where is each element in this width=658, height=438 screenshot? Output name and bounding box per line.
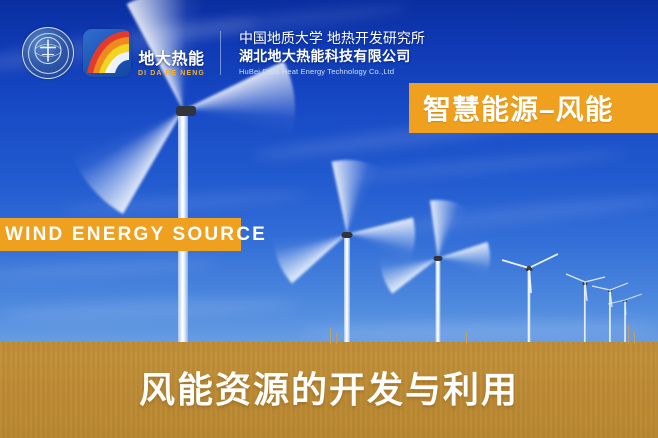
org-name-line3-en: HuBei DiDa Heat Energy Technology Co.,Lt…	[239, 67, 425, 76]
organization-names: 中国地质大学 地热开发研究所 湖北地大热能科技有限公司 HuBei DiDa H…	[239, 30, 425, 75]
dida-rainbow-logo-icon	[83, 29, 131, 77]
banner-smart-energy-wind-text: 智慧能源–风能	[423, 88, 614, 128]
grass-blade	[330, 328, 331, 344]
ground-field	[0, 342, 658, 438]
org-name-line1: 中国地质大学 地热开发研究所	[239, 30, 425, 47]
org-name-line2: 湖北地大热能科技有限公司	[239, 48, 425, 65]
banner-smart-energy-wind: 智慧能源–风能	[409, 83, 658, 133]
banner-wind-energy-source: WIND ENERGY SOURCE	[0, 218, 241, 251]
grass-blade	[336, 333, 337, 344]
banner-wind-energy-source-text: WIND ENERGY SOURCE	[5, 224, 267, 246]
university-seal-icon	[22, 27, 74, 79]
dida-wordmark-cn: 地大热能	[138, 52, 204, 68]
header-divider	[220, 31, 221, 75]
brand-header: 地大热能 DI DA RE NENG 中国地质大学 地热开发研究所 湖北地大热能…	[22, 27, 425, 79]
wind-energy-poster: 地大热能 DI DA RE NENG 中国地质大学 地热开发研究所 湖北地大热能…	[0, 0, 658, 438]
wind-turbine-mid	[492, 268, 566, 348]
grass-blade	[628, 326, 629, 344]
turbine-blades-icon	[605, 290, 645, 316]
turbine-blades-icon	[492, 248, 566, 294]
dida-wordmark-en: DI DA RE NENG	[138, 70, 205, 77]
wind-turbine-distant	[605, 300, 645, 346]
seal-emblem	[33, 36, 63, 71]
grass-blade	[466, 331, 467, 344]
ground-texture	[0, 342, 658, 438]
dida-wordmark: 地大热能 DI DA RE NENG	[138, 27, 205, 79]
grass-blade	[634, 332, 635, 344]
